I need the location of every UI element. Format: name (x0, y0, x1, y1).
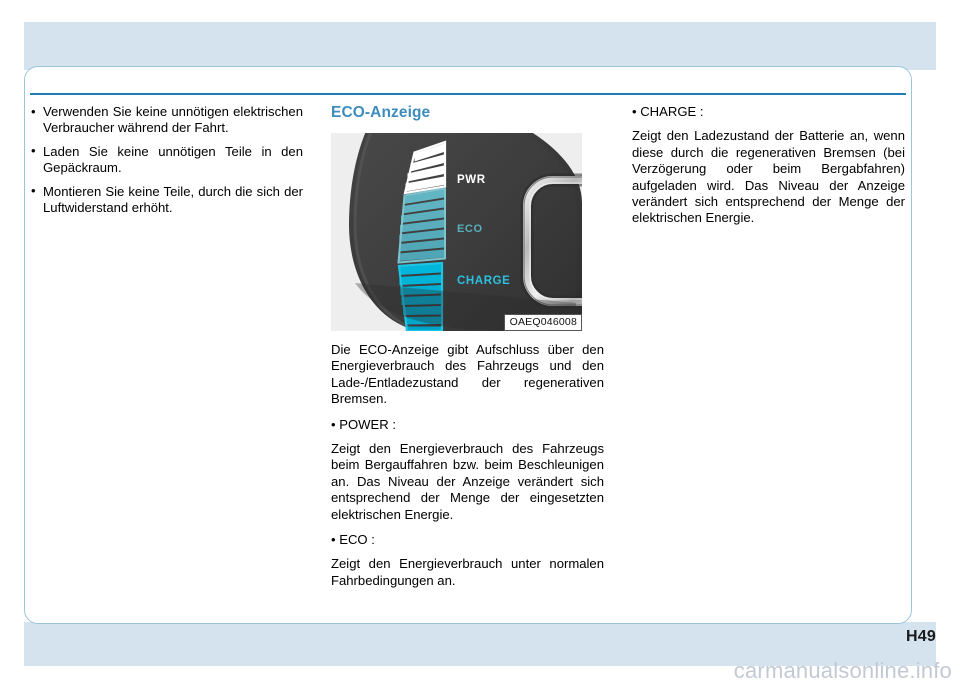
eco-label: ECO (457, 223, 483, 235)
eco-intro-paragraph: Die ECO-Anzeige gibt Aufschluss über den… (331, 342, 604, 408)
eco-gauge-illustration: PWR (331, 133, 582, 331)
header-rule (30, 93, 906, 95)
figure-code: OAEQ046008 (504, 314, 582, 331)
eco-gauge-figure: PWR (331, 133, 582, 331)
charge-label: CHARGE (457, 275, 510, 287)
section-heading: ECO-Anzeige (331, 104, 604, 122)
page-number: H49 (0, 628, 936, 646)
list-item: Verwenden Sie keine unnötigen elektrisch… (30, 104, 303, 137)
pwr-label: PWR (457, 174, 486, 186)
charge-paragraph: Zeigt den Ladezustand der Batterie an, w… (632, 128, 905, 226)
list-item: Montieren Sie keine Teile, durch die sic… (30, 184, 303, 217)
charge-subheading: • CHARGE : (632, 104, 905, 120)
site-watermark: carmanualsonline.info (0, 658, 952, 684)
left-column: Verwenden Sie keine unnötigen elektrisch… (30, 104, 303, 589)
power-paragraph: Zeigt den Energieverbrauch des Fahrzeugs… (331, 441, 604, 523)
list-item: Laden Sie keine unnötigen Teile in den G… (30, 144, 303, 177)
eco-subheading: • ECO : (331, 532, 604, 548)
page-content: Verwenden Sie keine unnötigen elektrisch… (30, 86, 906, 616)
power-subheading: • POWER : (331, 417, 604, 433)
eco-paragraph: Zeigt den Energieverbrauch unter normale… (331, 556, 604, 589)
manual-page: Verwenden Sie keine unnötigen elektrisch… (0, 0, 960, 689)
header-band (24, 22, 936, 70)
right-column: • CHARGE : Zeigt den Ladezustand der Bat… (632, 104, 905, 589)
column-layout: Verwenden Sie keine unnötigen elektrisch… (30, 104, 906, 589)
middle-column: ECO-Anzeige (331, 104, 604, 589)
